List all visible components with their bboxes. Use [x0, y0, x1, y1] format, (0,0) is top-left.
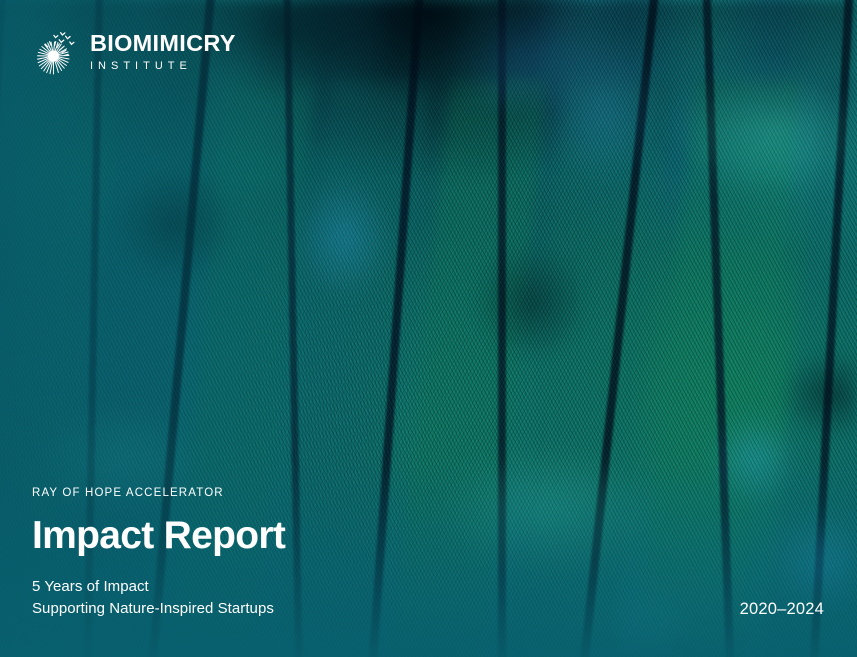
cover-title-block: RAY OF HOPE ACCELERATOR Impact Report 5 …: [32, 488, 452, 619]
logo-division-name: INSTITUTE: [90, 61, 236, 72]
biomimicry-institute-logo: BIOMIMICRY INSTITUTE: [30, 28, 236, 76]
logo-organization-name: BIOMIMICRY: [90, 32, 236, 56]
page-title: Impact Report: [32, 516, 452, 555]
program-eyebrow-label: RAY OF HOPE ACCELERATOR: [32, 488, 452, 500]
subtitle-line-1: 5 Years of Impact: [32, 576, 452, 597]
report-year-range: 2020–2024: [740, 601, 824, 618]
report-cover: BIOMIMICRY INSTITUTE RAY OF HOPE ACCELER…: [0, 0, 857, 657]
subtitle-line-2: Supporting Nature-Inspired Startups: [32, 598, 452, 619]
dandelion-seedhead-icon: [30, 28, 78, 76]
logo-wordmark: BIOMIMICRY INSTITUTE: [90, 32, 236, 72]
